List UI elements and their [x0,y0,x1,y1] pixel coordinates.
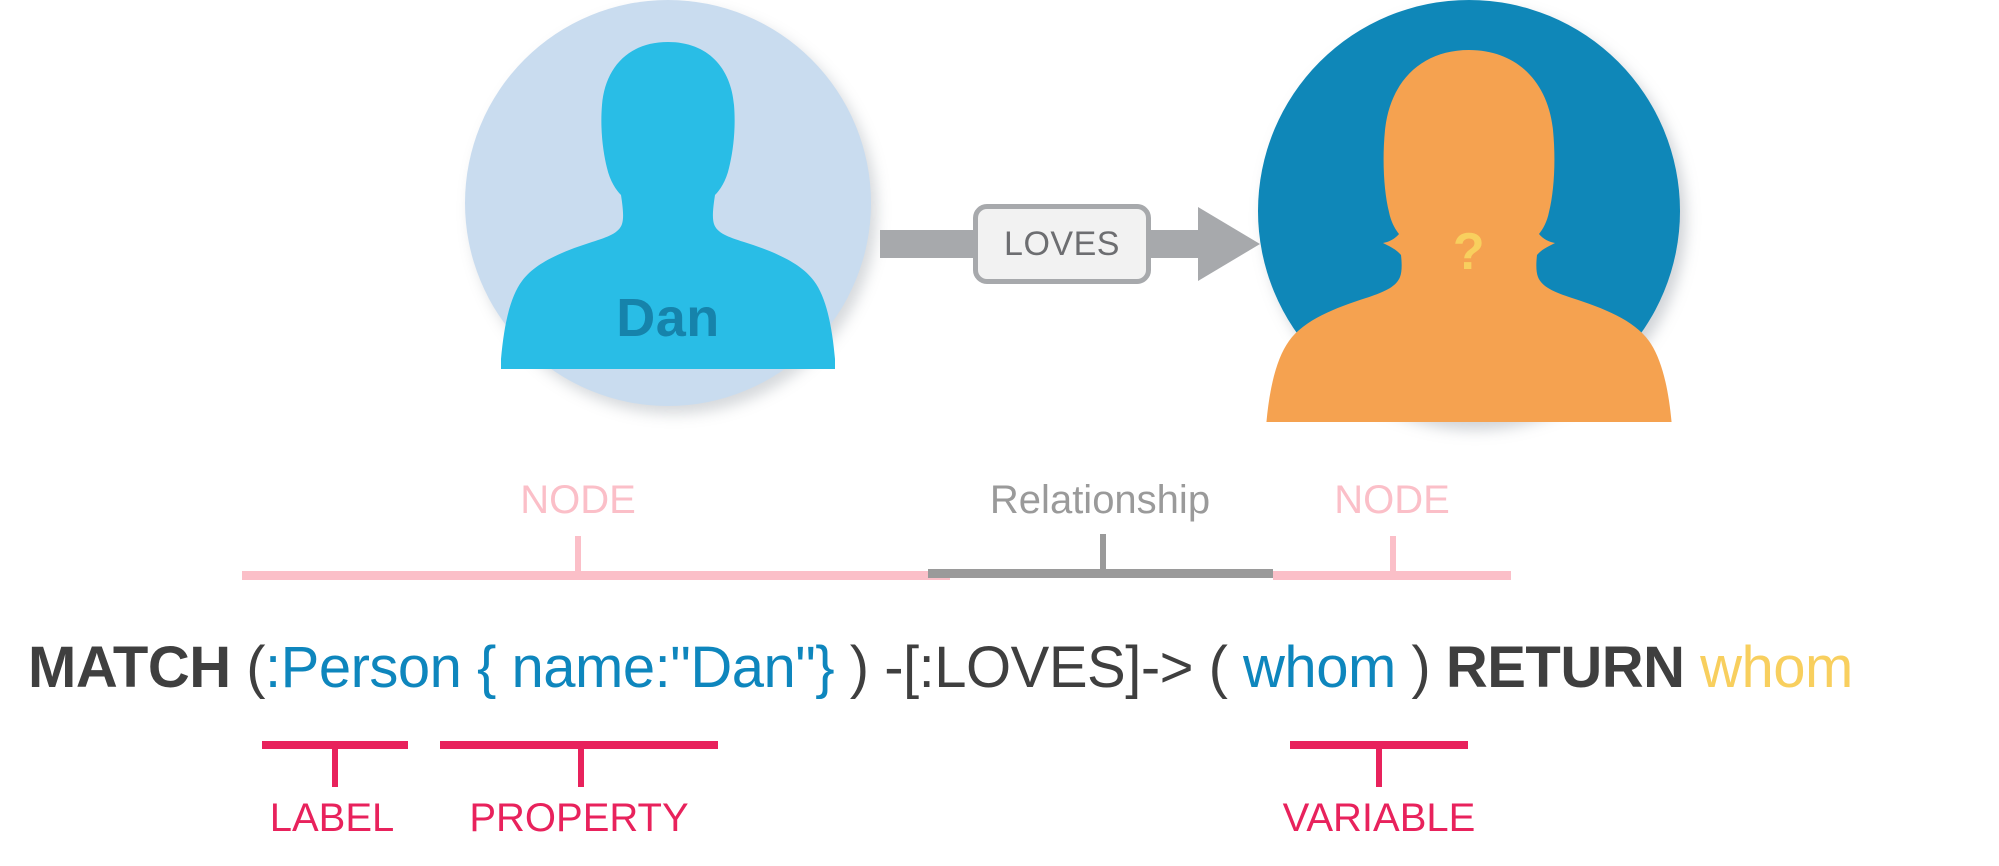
node-dan-label: Dan [465,287,871,349]
bracket-bar-node-left [242,571,950,580]
annotation-caption-property: PROPERTY [459,796,699,841]
query-token-relationship: ) -[:LOVES]-> ( [834,635,1243,700]
relationship-type-label: LOVES [1004,225,1120,264]
node-whom-label: ? [1258,222,1680,282]
relationship-arrowhead-icon [1198,207,1260,281]
diagram-canvas: Dan LOVES ? NODE Relationship NODE MATCH… [0,0,1999,866]
bracket-caption-node-right: NODE [1272,478,1512,523]
relationship-type-badge[interactable]: LOVES [973,204,1151,284]
female-avatar-icon [1258,0,1680,422]
cypher-query[interactable]: MATCH (:Person { name:"Dan"} ) -[:LOVES]… [28,632,1853,704]
query-token-label-property: :Person { name:"Dan"} [265,635,834,700]
node-whom[interactable] [1258,0,1680,422]
bracket-tick-relationship [1100,534,1106,572]
annotation-tick-variable [1376,741,1382,787]
bracket-tick-node-left [575,536,581,574]
bracket-tick-node-right [1390,536,1396,574]
query-token-variable: whom [1243,635,1396,700]
query-token-match: MATCH [28,635,231,700]
bracket-caption-node-left: NODE [458,478,698,523]
query-token-close-paren: ) [1396,635,1446,700]
annotation-tick-property [578,741,584,787]
annotation-tick-label [332,741,338,787]
annotation-caption-label: LABEL [212,796,452,841]
annotation-caption-variable: VARIABLE [1259,796,1499,841]
query-token-return: RETURN [1446,635,1685,700]
query-token-space [1684,635,1700,700]
query-token-open-paren: ( [231,635,265,700]
relationship-line-left [880,230,980,258]
bracket-caption-relationship: Relationship [960,478,1240,523]
query-token-return-variable: whom [1700,635,1853,700]
